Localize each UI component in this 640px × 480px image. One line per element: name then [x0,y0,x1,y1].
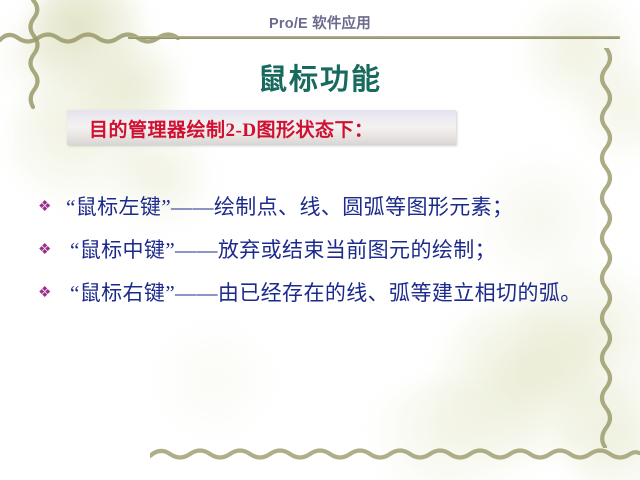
diamond-bullet-icon: ❖ [38,235,66,265]
floral-blob [430,300,600,470]
list-item: ❖ “鼠标右键”——由已经存在的线、弧等建立相切的弧。 [38,278,608,309]
floral-blob [150,320,280,440]
floral-blob [560,380,640,480]
header-title: Pro/E 软件应用 [0,12,640,33]
list-item-label: “鼠标中键”——放弃或结束当前图元的绘制； [66,235,608,266]
slide-header: Pro/E 软件应用 [0,0,640,40]
list-item: ❖ “鼠标中键”——放弃或结束当前图元的绘制； [38,235,608,266]
subtitle-banner: 目的管理器绘制2-D图形状态下： [67,110,456,145]
list-item-label: “鼠标左键”——绘制点、线、圆弧等图形元素； [66,192,608,223]
diamond-bullet-icon: ❖ [38,278,66,308]
squiggle-horizontal-decoration [150,440,640,479]
header-divider [128,36,620,39]
subtitle-text: 目的管理器绘制2-D图形状态下： [89,115,374,142]
list-item-label: “鼠标右键”——由已经存在的线、弧等建立相切的弧。 [66,278,608,309]
slide-canvas: Pro/E 软件应用 鼠标功能 目的管理器绘制2-D图形状态下： ❖ “鼠标左键… [0,0,640,480]
floral-blob [360,380,540,480]
page-title: 鼠标功能 [0,56,640,98]
list-item: ❖ “鼠标左键”——绘制点、线、圆弧等图形元素； [38,192,608,223]
bullet-list: ❖ “鼠标左键”——绘制点、线、圆弧等图形元素； ❖ “鼠标中键”——放弃或结束… [38,192,608,321]
diamond-bullet-icon: ❖ [38,192,66,222]
